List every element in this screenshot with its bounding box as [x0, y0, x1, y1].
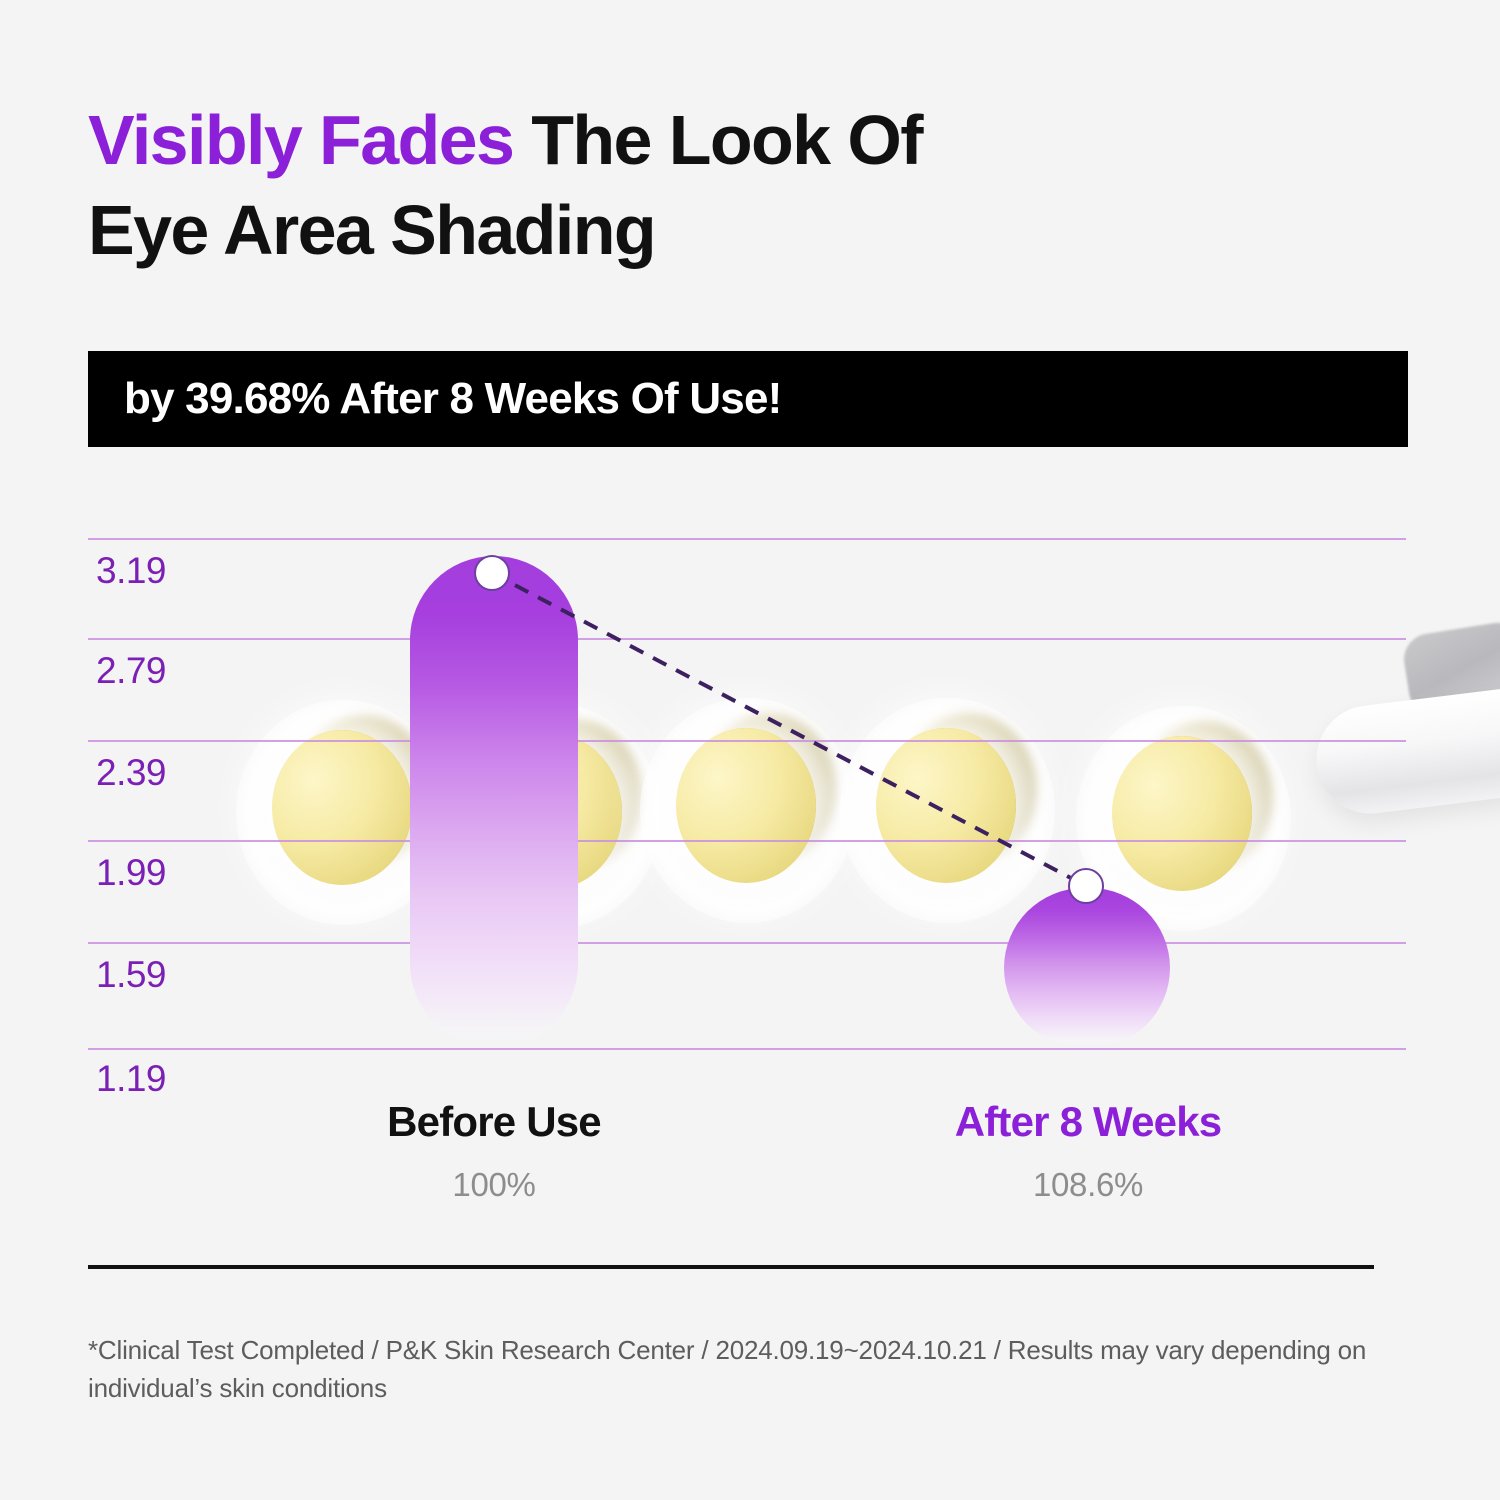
x-label-before-use: Before Use — [334, 1098, 654, 1146]
clinical-results-chart: 3.19 2.79 2.39 1.99 1.59 1.19 Before Use… — [0, 0, 1500, 1500]
data-point-marker-before — [474, 555, 510, 591]
y-tick-label: 1.59 — [96, 954, 166, 996]
x-sublabel-after-8-weeks: 108.6% — [928, 1166, 1248, 1204]
footer-divider — [88, 1265, 1374, 1269]
x-sublabel-before-use: 100% — [334, 1166, 654, 1204]
data-point-marker-after — [1068, 868, 1104, 904]
y-tick-label: 3.19 — [96, 550, 166, 592]
infographic-canvas: Visibly Fades The Look Of Eye Area Shadi… — [0, 0, 1500, 1500]
x-label-after-8-weeks: After 8 Weeks — [928, 1098, 1248, 1146]
y-tick-label: 2.39 — [96, 752, 166, 794]
y-tick-label: 2.79 — [96, 650, 166, 692]
y-axis: 3.19 2.79 2.39 1.99 1.59 1.19 — [88, 510, 1408, 1070]
y-tick-label: 1.99 — [96, 852, 166, 894]
y-tick-label: 1.19 — [96, 1058, 166, 1100]
footnote-text: *Clinical Test Completed / P&K Skin Rese… — [88, 1332, 1378, 1407]
